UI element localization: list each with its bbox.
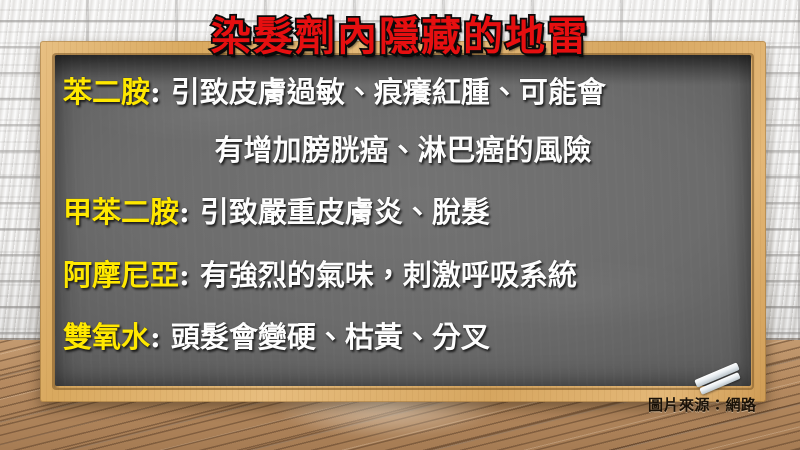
separator: :: [179, 258, 200, 292]
slide-canvas: 染髮劑內隱藏的地雷 苯二胺: 引致皮膚過敏、痕癢紅腫、可能會 有增加膀胱癌、淋巴…: [0, 0, 800, 450]
chemical-effect: 引致皮膚過敏、痕癢紅腫、可能會: [171, 75, 606, 109]
page-title: 染髮劑內隱藏的地雷: [0, 13, 800, 61]
chemical-effect: 引致嚴重皮膚炎、脫髮: [200, 195, 490, 229]
separator: :: [150, 75, 171, 109]
chemical-name: 阿摩尼亞: [63, 258, 179, 292]
chemical-effect: 有強烈的氣味，刺激呼吸系統: [200, 258, 577, 292]
list-item: 雙氧水: 頭髮會變硬、枯黃、分叉: [55, 320, 759, 354]
image-source-credit: 圖片來源：網路: [648, 396, 757, 414]
chemical-effect: 頭髮會變硬、枯黃、分叉: [171, 320, 490, 354]
chemical-name: 苯二胺: [63, 75, 150, 109]
separator: :: [150, 320, 171, 354]
blackboard-text-block: 苯二胺: 引致皮膚過敏、痕癢紅腫、可能會 有增加膀胱癌、淋巴癌的風險 甲苯二胺:…: [55, 55, 751, 386]
list-item: 苯二胺: 引致皮膚過敏、痕癢紅腫、可能會: [55, 75, 759, 109]
separator: :: [179, 195, 200, 229]
list-item: 甲苯二胺: 引致嚴重皮膚炎、脫髮: [55, 195, 759, 229]
list-item-continuation: 有增加膀胱癌、淋巴癌的風險: [55, 133, 751, 167]
chemical-name: 甲苯二胺: [63, 195, 179, 229]
chemical-name: 雙氧水: [63, 320, 150, 354]
chemical-effect: 有增加膀胱癌、淋巴癌的風險: [214, 133, 591, 167]
list-item: 阿摩尼亞: 有強烈的氣味，刺激呼吸系統: [55, 258, 759, 292]
